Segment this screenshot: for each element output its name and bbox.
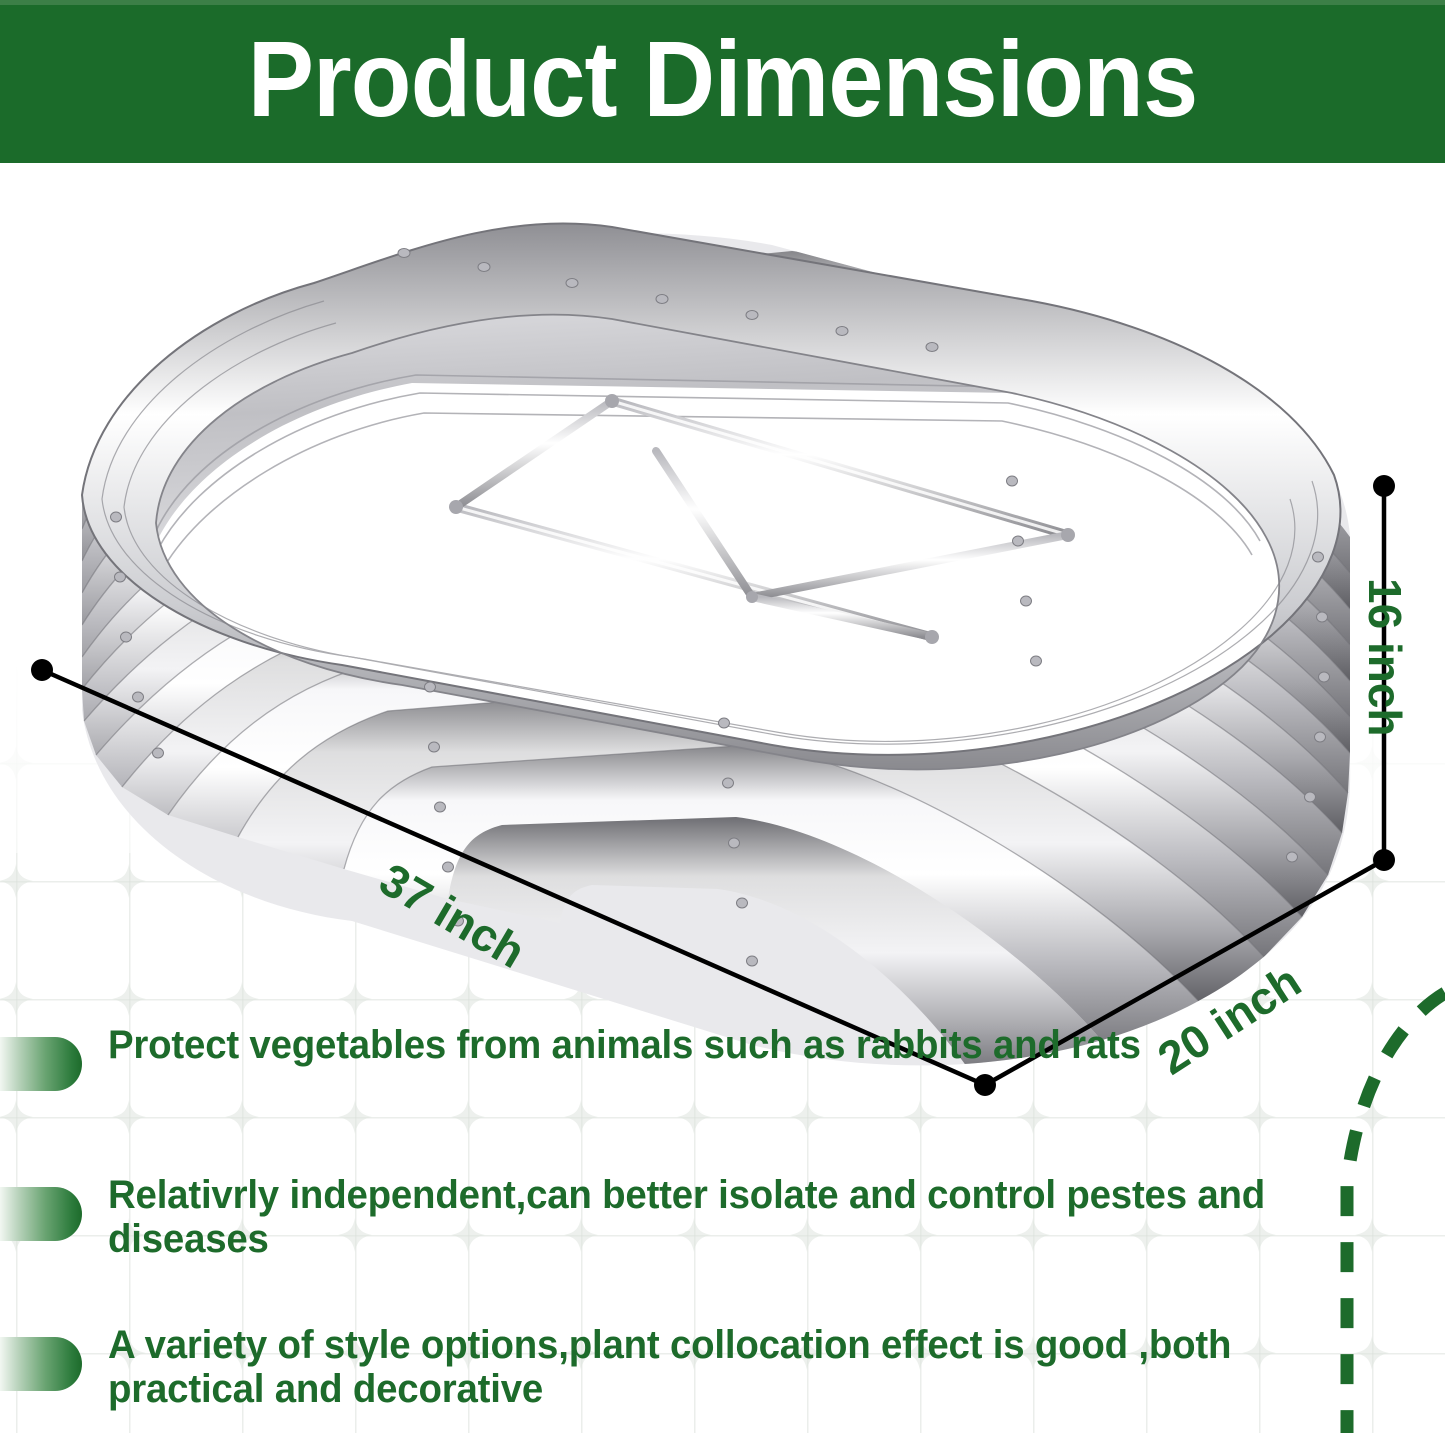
list-item: Protect vegetables from animals such as … <box>0 1015 1445 1165</box>
product-image-raised-garden-bed <box>52 205 1362 1125</box>
page-header: Product Dimensions <box>0 0 1445 163</box>
bullet-marker-icon <box>0 1037 82 1091</box>
page-title: Product Dimensions <box>58 0 1387 163</box>
feature-list: Protect vegetables from animals such as … <box>0 1015 1445 1433</box>
bullet-marker-icon <box>0 1187 82 1241</box>
list-item: Relativrly independent,can better isolat… <box>0 1165 1445 1315</box>
feature-text: Protect vegetables from animals such as … <box>108 1024 1141 1068</box>
product-dimensions-infographic: Product Dimensions <box>0 0 1445 1433</box>
height-dimension-label: 16 inch <box>1358 578 1412 737</box>
list-item: A variety of style options,plant colloca… <box>0 1315 1445 1433</box>
feature-text: A variety of style options,plant colloca… <box>108 1324 1346 1411</box>
bullet-marker-icon <box>0 1337 82 1391</box>
feature-text: Relativrly independent,can better isolat… <box>108 1174 1346 1261</box>
